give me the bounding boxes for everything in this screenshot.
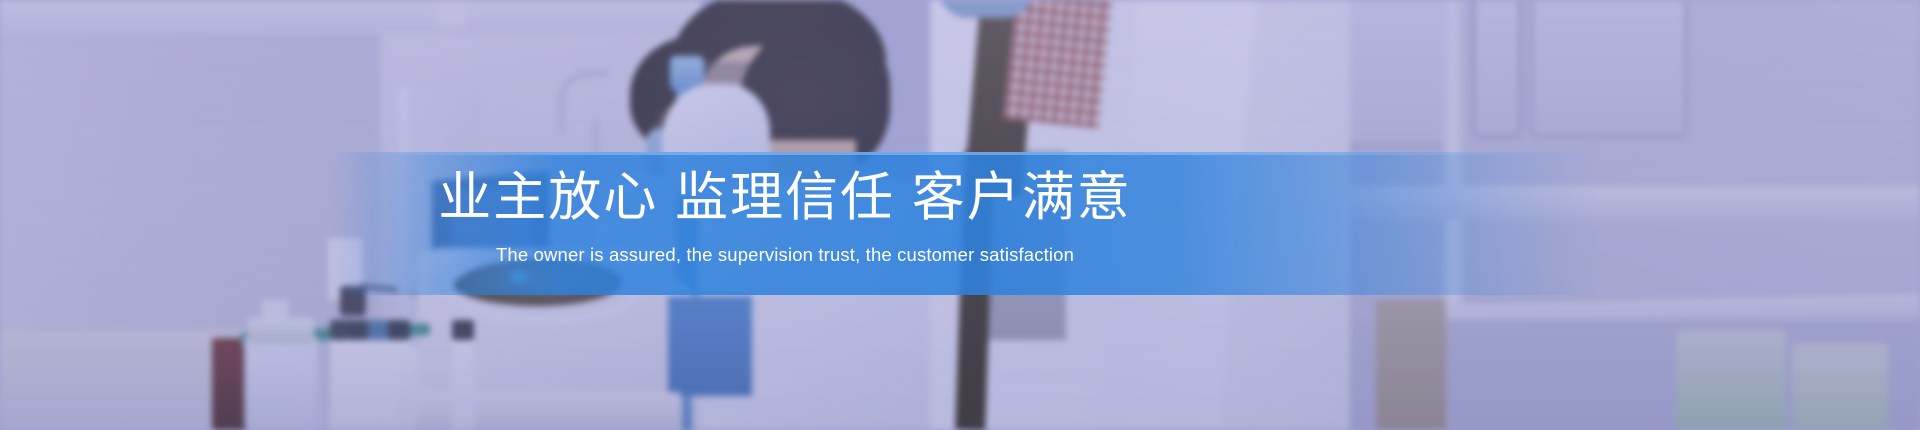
banner-headline: 业主放心 监理信任 客户满意 <box>0 168 1570 227</box>
banner-text-block: 业主放心 监理信任 客户满意 The owner is assured, the… <box>0 152 1920 295</box>
banner-subheadline: The owner is assured, the supervision tr… <box>0 244 1570 266</box>
hero-banner: 业主放心 监理信任 客户满意 The owner is assured, the… <box>0 0 1920 430</box>
